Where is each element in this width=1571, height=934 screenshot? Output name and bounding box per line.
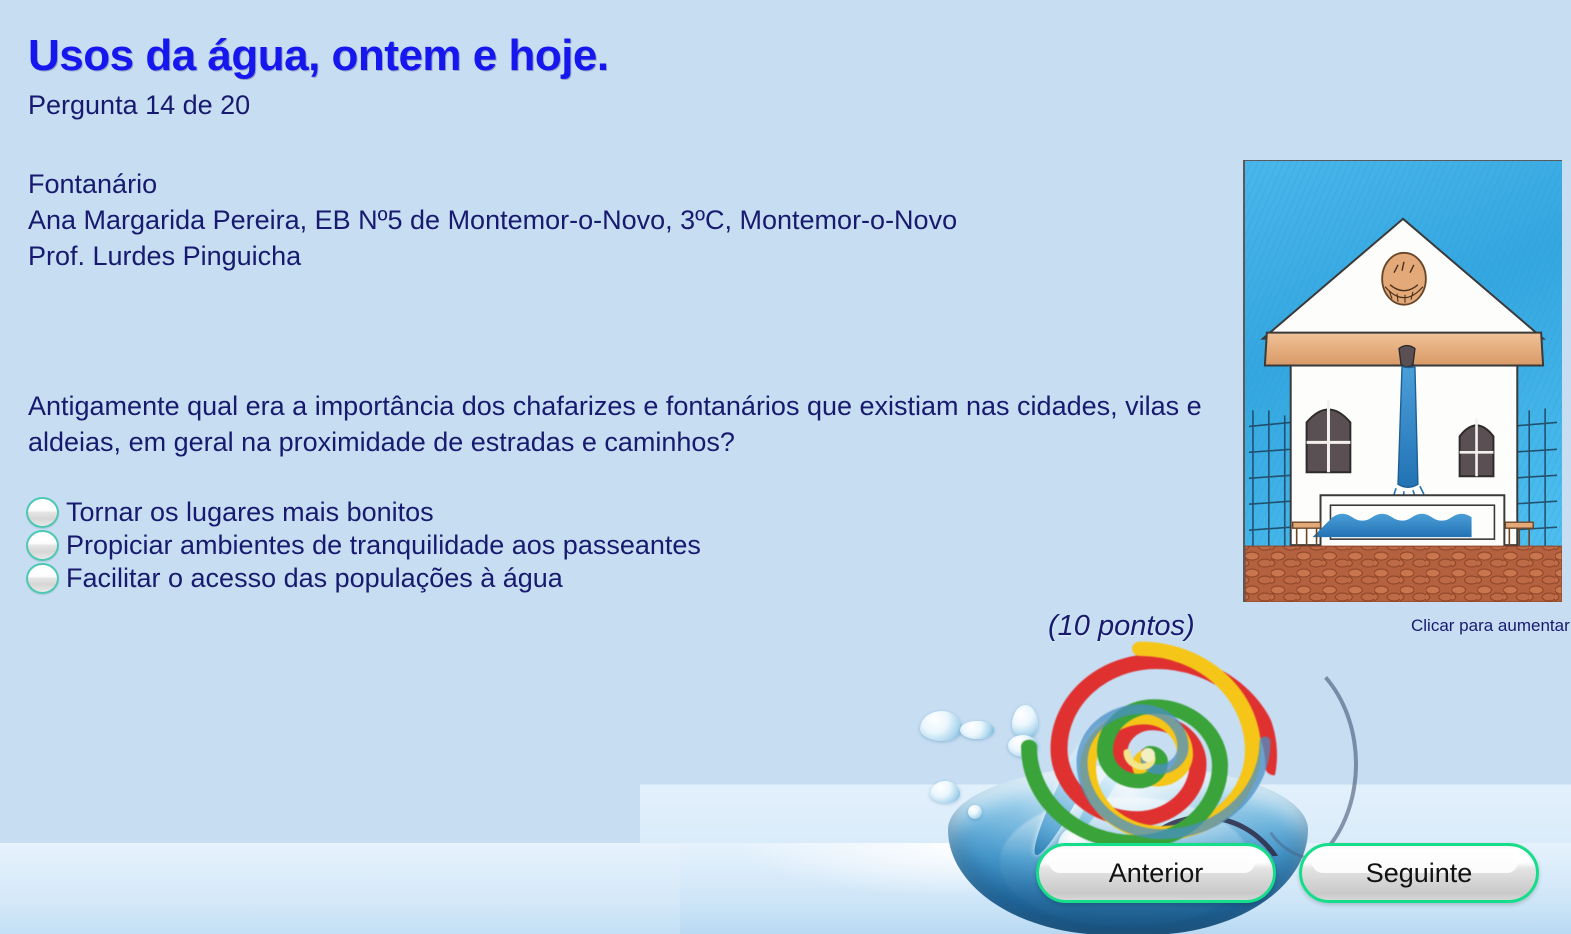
question-text: Antigamente qual era a importância dos c… [28, 388, 1208, 460]
previous-button[interactable]: Anterior [1036, 843, 1276, 903]
credits-block: Fontanário Ana Margarida Pereira, EB Nº5… [28, 166, 957, 274]
answer-option-label: Tornar os lugares mais bonitos [66, 497, 434, 528]
credits-teacher: Prof. Lurdes Pinguicha [28, 238, 957, 274]
question-counter: Pergunta 14 de 20 [28, 90, 250, 121]
credits-subject: Fontanário [28, 166, 957, 202]
answer-option-1[interactable]: Tornar os lugares mais bonitos [26, 496, 926, 529]
previous-button-label: Anterior [1109, 858, 1204, 889]
bottom-gradient-wash [0, 843, 680, 934]
answer-option-2[interactable]: Propiciar ambientes de tranquilidade aos… [26, 529, 926, 562]
illustration-thumbnail[interactable] [1243, 160, 1562, 602]
answer-option-label: Propiciar ambientes de tranquilidade aos… [66, 530, 701, 561]
answer-option-3[interactable]: Facilitar o acesso das populações à água [26, 562, 926, 595]
water-droplet [920, 711, 962, 741]
water-droplet [960, 721, 994, 739]
radio-button-icon[interactable] [26, 497, 59, 528]
answer-options-list: Tornar os lugares mais bonitos Propiciar… [26, 496, 926, 595]
points-label: (10 pontos) [1048, 610, 1195, 643]
water-droplet [968, 805, 982, 819]
drawing-of-fountain-house [1245, 161, 1562, 602]
radio-button-icon[interactable] [26, 563, 59, 594]
answer-option-label: Facilitar o acesso das populações à água [66, 563, 563, 594]
page-title: Usos da água, ontem e hoje. [28, 31, 609, 81]
next-button[interactable]: Seguinte [1299, 843, 1539, 903]
credits-author: Ana Margarida Pereira, EB Nº5 de Montemo… [28, 202, 957, 238]
quiz-slide: Usos da água, ontem e hoje. Pergunta 14 … [0, 0, 1571, 934]
radio-button-icon[interactable] [26, 530, 59, 561]
water-droplet [930, 781, 960, 803]
illustration-caption: Clicar para aumentar [1411, 616, 1570, 636]
rainbow-spiral-logo [1019, 640, 1277, 870]
next-button-label: Seguinte [1366, 858, 1473, 889]
